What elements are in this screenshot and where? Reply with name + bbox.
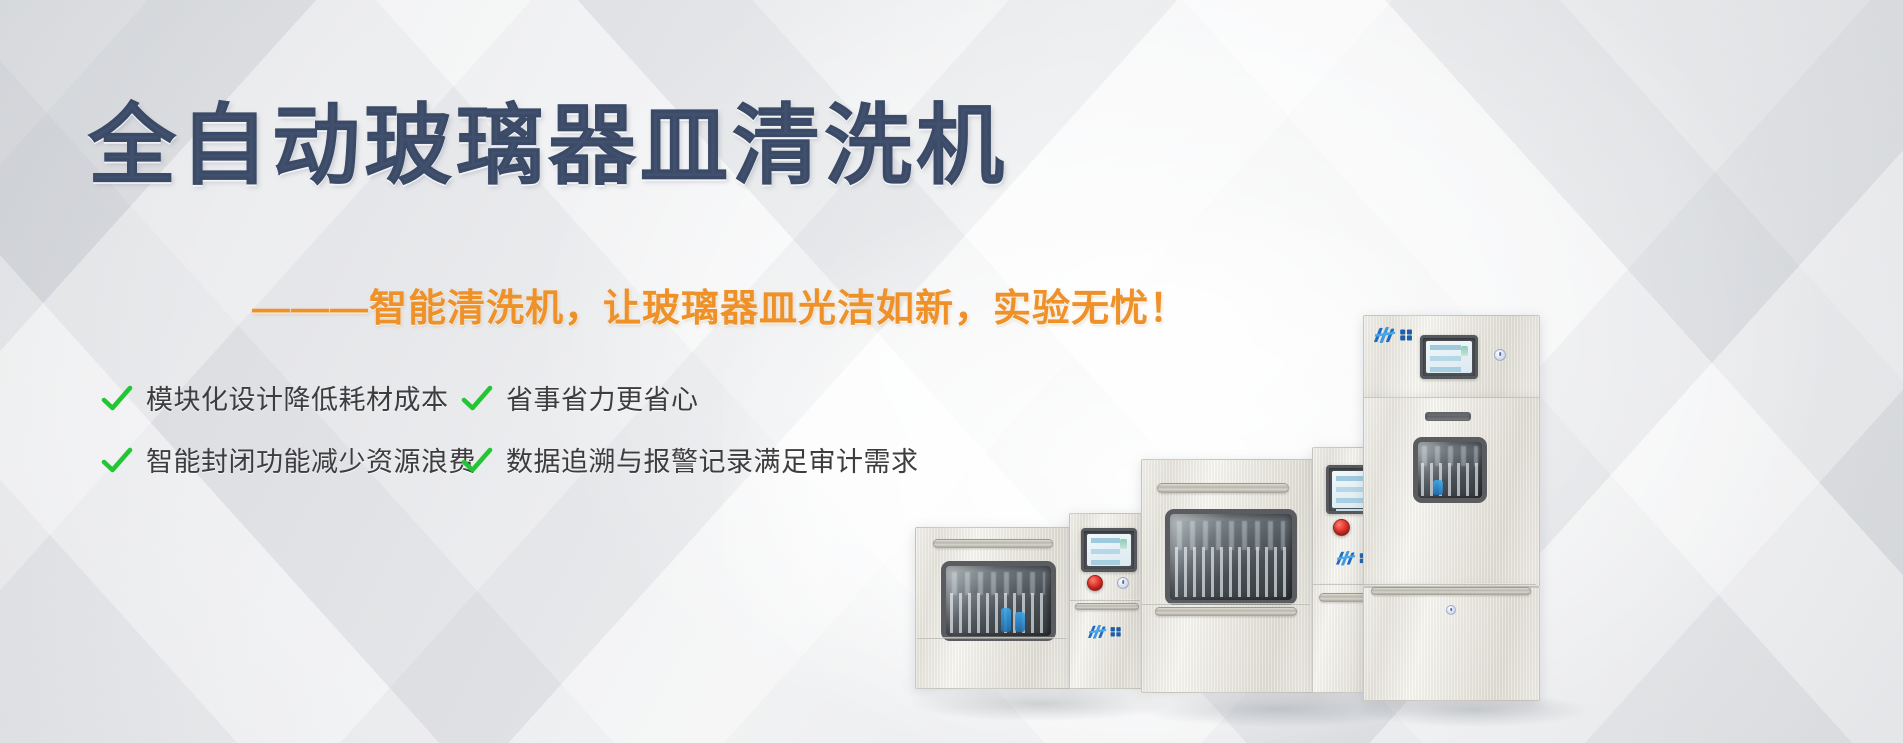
touchscreen-panel[interactable]	[1081, 528, 1137, 572]
product-image-undercounter-washer[interactable]	[915, 513, 1155, 703]
feature-item: 省事省力更省心	[460, 378, 980, 417]
power-button[interactable]	[1494, 349, 1506, 361]
emergency-stop-button[interactable]	[1087, 575, 1103, 591]
check-icon	[460, 444, 494, 478]
caster-wheel	[937, 679, 959, 705]
brand-logo	[1089, 625, 1120, 639]
feature-item: 数据追溯与报警记录满足审计需求	[460, 440, 980, 479]
door-latch[interactable]	[1446, 605, 1456, 615]
caster-wheel	[1279, 683, 1301, 709]
service-door-handle	[1075, 603, 1139, 610]
feature-label: 模块化设计降低耗材成本	[146, 378, 449, 417]
logo-mark-icon	[1337, 551, 1357, 565]
logo-wordmark	[1400, 329, 1411, 340]
lower-door-handle	[1371, 587, 1531, 595]
feature-label: 省事省力更省心	[506, 378, 699, 417]
check-icon	[100, 444, 134, 478]
check-icon	[460, 382, 494, 416]
promo-banner: 全自动玻璃器皿清洗机 ———智能清洗机，让玻璃器皿光洁如新，实验无忧！ 模块化设…	[0, 0, 1903, 743]
product-photo-group	[903, 0, 1903, 743]
viewing-window	[1165, 509, 1297, 605]
page-title: 全自动玻璃器皿清洗机	[88, 101, 1008, 191]
logo-mark-icon	[1375, 327, 1397, 343]
feature-label: 智能封闭功能减少资源浪费	[146, 440, 476, 479]
caster-wheel	[1375, 691, 1397, 717]
lower-door-handle	[1155, 607, 1297, 616]
brand-logo	[1375, 327, 1412, 343]
caster-wheel	[1503, 691, 1525, 717]
door-handle	[933, 539, 1053, 548]
feature-label: 数据追溯与报警记录满足审计需求	[506, 440, 919, 479]
feature-item: 模块化设计降低耗材成本	[100, 378, 460, 417]
logo-wordmark	[1111, 627, 1121, 637]
power-button[interactable]	[1117, 577, 1129, 589]
feature-item: 智能封闭功能减少资源浪费	[100, 440, 460, 479]
viewing-window	[941, 561, 1056, 641]
logo-mark-icon	[1089, 625, 1108, 639]
viewing-window	[1413, 437, 1487, 503]
emergency-stop-button[interactable]	[1333, 519, 1350, 536]
product-image-tall-column-washer[interactable]	[1363, 315, 1583, 707]
caster-wheel	[1041, 679, 1063, 705]
door-handle	[1157, 483, 1289, 493]
vent-grille	[1425, 412, 1471, 421]
caster-wheel	[1159, 683, 1181, 709]
check-icon	[100, 382, 134, 416]
touchscreen-panel[interactable]	[1420, 335, 1478, 379]
